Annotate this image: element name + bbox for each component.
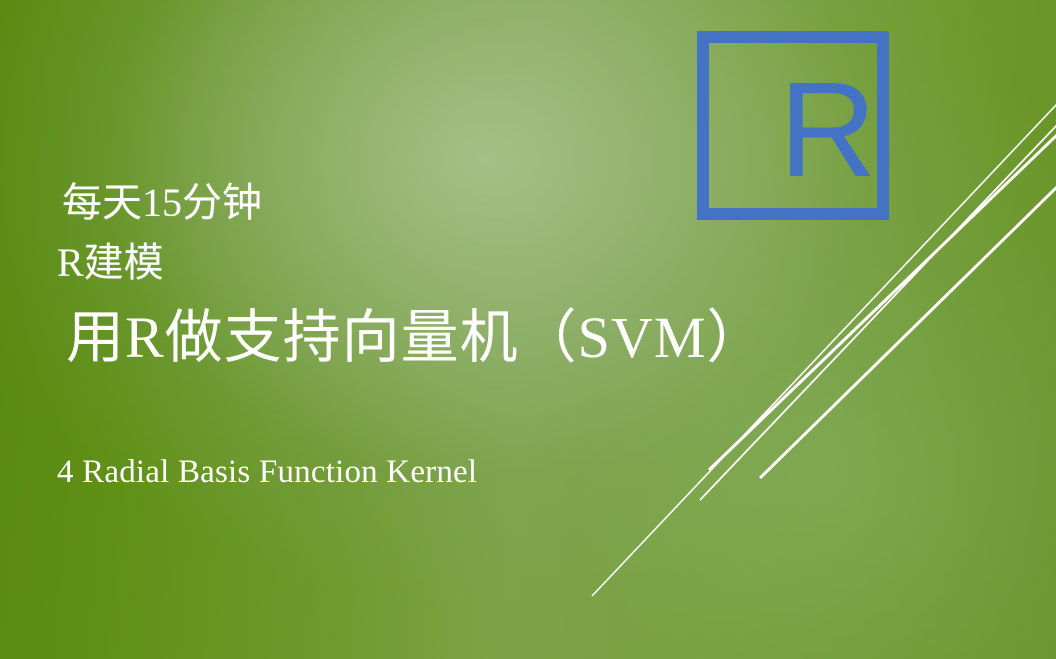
kicker-line-2: R建模 <box>57 243 164 283</box>
slide-subtitle: 4 Radial Basis Function Kernel <box>57 456 477 489</box>
slide-text-block: 每天15分钟 R建模 用R做支持向量机（SVM） 4 Radial Basis … <box>0 0 1056 659</box>
presentation-slide: R 每天15分钟 R建模 用R做支持向量机（SVM） 4 Radial Basi… <box>0 0 1056 659</box>
page-title: 用R做支持向量机（SVM） <box>66 309 765 367</box>
kicker-line-1: 每天15分钟 <box>62 183 262 223</box>
